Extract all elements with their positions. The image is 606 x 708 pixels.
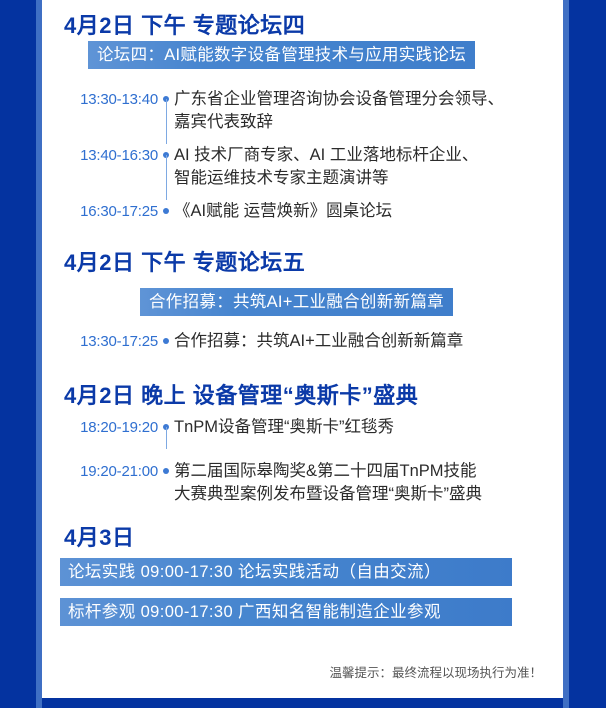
timeline-dot-icon (163, 338, 169, 344)
timeline-text: 《AI赋能 运营焕新》圆桌论坛 (172, 200, 554, 223)
timeline-time: 18:20-19:20 (54, 416, 158, 439)
day-three-bar-benchmark-visit: 标杆参观 09:00-17:30 广西知名智能制造企业参观 (60, 598, 512, 626)
timeline-text-line: 大赛典型案例发布暨设备管理“奥斯卡”盛典 (174, 483, 563, 506)
poster-root: 4月2日 下午 专题论坛四 论坛四：AI赋能数字设备管理技术与应用实践论坛 13… (0, 0, 606, 708)
timeline-text-line: 智能运维技术专家主题演讲等 (174, 167, 554, 190)
timeline-dot-icon (163, 468, 169, 474)
agenda-card: 4月2日 下午 专题论坛四 论坛四：AI赋能数字设备管理技术与应用实践论坛 13… (42, 0, 563, 698)
timeline-marker (158, 330, 172, 353)
timeline-forum-four: 13:30-13:40 广东省企业管理咨询协会设备管理分会领导、 嘉宾代表致辞 … (54, 88, 554, 223)
frame-strip-right (563, 0, 569, 708)
section-banner-forum-four: 论坛四：AI赋能数字设备管理技术与应用实践论坛 (88, 41, 475, 69)
timeline-marker (158, 460, 172, 506)
section-heading-oscar-gala: 4月2日 晚上 设备管理“奥斯卡”盛典 (64, 378, 418, 410)
timeline-text: 广东省企业管理咨询协会设备管理分会领导、 嘉宾代表致辞 (172, 88, 554, 134)
timeline-oscar-gala: 18:20-19:20 TnPM设备管理“奥斯卡”红毯秀 19:20-21:00 (54, 416, 563, 506)
footnote-disclaimer: 温馨提示：最终流程以现场执行为准！ (42, 662, 542, 681)
timeline-time: 13:30-17:25 (54, 330, 158, 353)
timeline-marker (158, 144, 172, 190)
timeline-text: 合作招募：共筑AI+工业融合创新新篇章 (172, 330, 554, 353)
day-three-bar-forum-practice: 论坛实践 09:00-17:30 论坛实践活动（自由交流） (60, 558, 512, 586)
timeline-marker (158, 416, 172, 439)
timeline-row: 18:20-19:20 TnPM设备管理“奥斯卡”红毯秀 (54, 416, 563, 439)
section-banner-forum-five: 合作招募：共筑AI+工业融合创新新篇章 (140, 288, 453, 316)
timeline-text-line: 第二届国际皋陶奖&第二十四届TnPM技能 (174, 460, 563, 483)
section-heading-day-three: 4月3日 (64, 520, 134, 552)
timeline-text-line: AI 技术厂商专家、AI 工业落地标杆企业、 (174, 144, 554, 167)
timeline-text: AI 技术厂商专家、AI 工业落地标杆企业、 智能运维技术专家主题演讲等 (172, 144, 554, 190)
timeline-row: 13:30-17:25 合作招募：共筑AI+工业融合创新新篇章 (54, 330, 554, 353)
timeline-row: 13:40-16:30 AI 技术厂商专家、AI 工业落地标杆企业、 智能运维技… (54, 144, 554, 190)
timeline-row: 19:20-21:00 第二届国际皋陶奖&第二十四届TnPM技能 大赛典型案例发… (54, 460, 563, 506)
timeline-text-line: TnPM设备管理“奥斯卡”红毯秀 (174, 416, 563, 439)
timeline-marker (158, 88, 172, 134)
timeline-dot-icon (163, 208, 169, 214)
section-heading-forum-five: 4月2日 下午 专题论坛五 (64, 245, 305, 277)
timeline-connector-line (166, 155, 168, 200)
timeline-time: 16:30-17:25 (54, 200, 158, 223)
timeline-time: 13:40-16:30 (54, 144, 158, 167)
timeline-time: 13:30-13:40 (54, 88, 158, 111)
timeline-text: 第二届国际皋陶奖&第二十四届TnPM技能 大赛典型案例发布暨设备管理“奥斯卡”盛… (172, 460, 563, 506)
timeline-time: 19:20-21:00 (54, 460, 158, 483)
timeline-forum-five: 13:30-17:25 合作招募：共筑AI+工业融合创新新篇章 (54, 330, 554, 353)
timeline-connector-line (166, 99, 168, 144)
timeline-text-line: 嘉宾代表致辞 (174, 111, 554, 134)
timeline-text-line: 《AI赋能 运营焕新》圆桌论坛 (174, 200, 554, 223)
timeline-row: 13:30-13:40 广东省企业管理咨询协会设备管理分会领导、 嘉宾代表致辞 (54, 88, 554, 134)
timeline-marker (158, 200, 172, 223)
timeline-connector-line (166, 427, 168, 449)
timeline-text-line: 合作招募：共筑AI+工业融合创新新篇章 (174, 330, 554, 353)
banner-label: 合作招募：共筑AI+工业融合创新新篇章 (140, 288, 453, 316)
timeline-text-line: 广东省企业管理咨询协会设备管理分会领导、 (174, 88, 554, 111)
section-heading-forum-four: 4月2日 下午 专题论坛四 (64, 8, 305, 40)
timeline-row: 16:30-17:25 《AI赋能 运营焕新》圆桌论坛 (54, 200, 554, 223)
banner-label: 论坛四：AI赋能数字设备管理技术与应用实践论坛 (88, 41, 475, 69)
timeline-text: TnPM设备管理“奥斯卡”红毯秀 (172, 416, 563, 439)
